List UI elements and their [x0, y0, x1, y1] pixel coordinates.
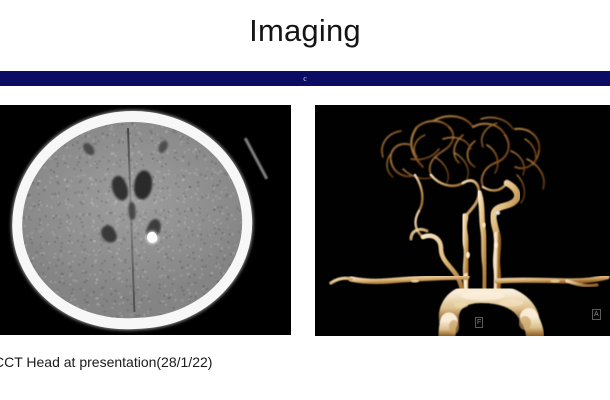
orientation-marker-foot: F [475, 317, 483, 328]
skull-outline [6, 105, 257, 335]
cta-3d-image: F A [315, 105, 610, 336]
divider-bar-label: c [0, 71, 610, 86]
orientation-marker-anterior: A [592, 309, 601, 320]
presentation-slide: Imaging c [0, 0, 610, 400]
cct-head-image [0, 105, 291, 335]
image-caption: CCT Head at presentation(28/1/22) [0, 352, 314, 372]
page-title: Imaging [0, 12, 610, 50]
divider-bar: c [0, 71, 610, 86]
brain-parenchyma [17, 116, 247, 323]
ct-mask-top-right [221, 105, 291, 155]
cta-vessel-rendering [315, 105, 610, 336]
cta-canvas: F A [315, 105, 610, 336]
cct-head-canvas [0, 105, 291, 335]
